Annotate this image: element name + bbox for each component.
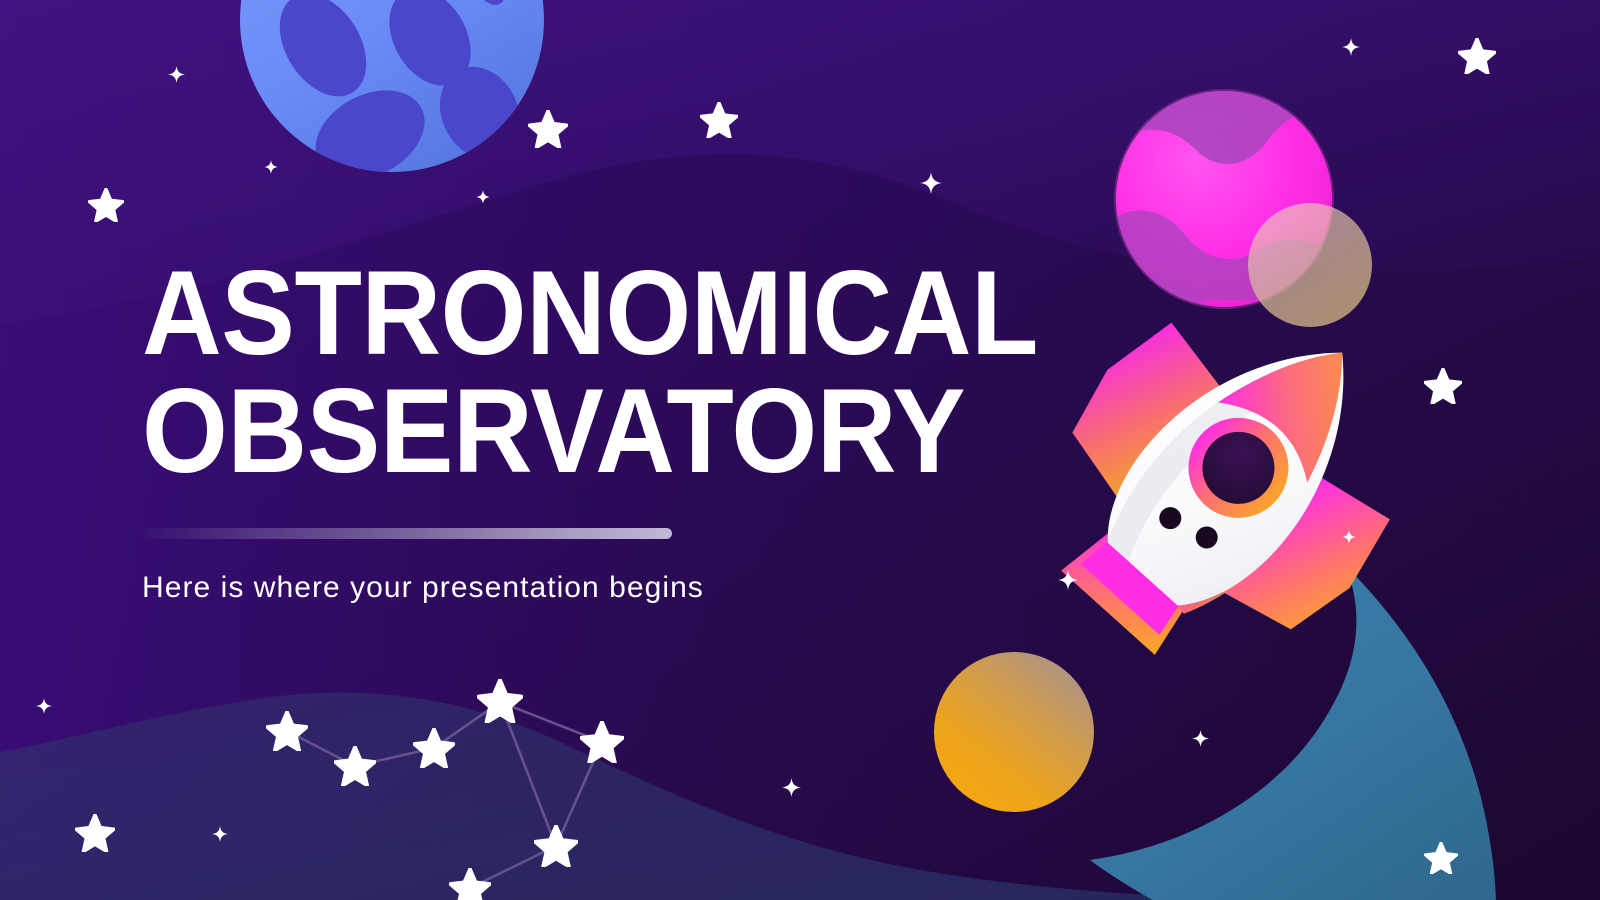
title-divider [142,528,672,539]
star-icon [529,111,566,147]
star-icon [1459,39,1494,73]
sparkle-icon [212,826,228,842]
sparkle-icon [920,172,942,194]
presentation-slide: ASTRONOMICAL OBSERVATORY Here is where y… [0,0,1600,900]
star-icon [701,103,736,137]
star-icon [76,815,113,851]
page-title: ASTRONOMICAL OBSERVATORY [142,255,1025,490]
sparkle-icon [1342,38,1360,56]
sparkle-icon [782,778,801,797]
sparkle-icon [264,160,278,174]
star-icon [89,189,122,221]
gold-planet [934,652,1094,812]
blue-cratered-moon [240,0,544,198]
sparkle-icon [476,190,490,204]
big-dipper-constellation [267,680,622,900]
sparkle-icon [36,698,52,714]
star-icon [1425,369,1460,403]
sparkle-icon [168,66,185,83]
slide-subtitle: Here is where your presentation begins [142,571,1102,605]
sparkle-icon [1192,730,1209,747]
slide-text-block: ASTRONOMICAL OBSERVATORY Here is where y… [142,255,1102,605]
translucent-tan-moon [1248,203,1372,327]
